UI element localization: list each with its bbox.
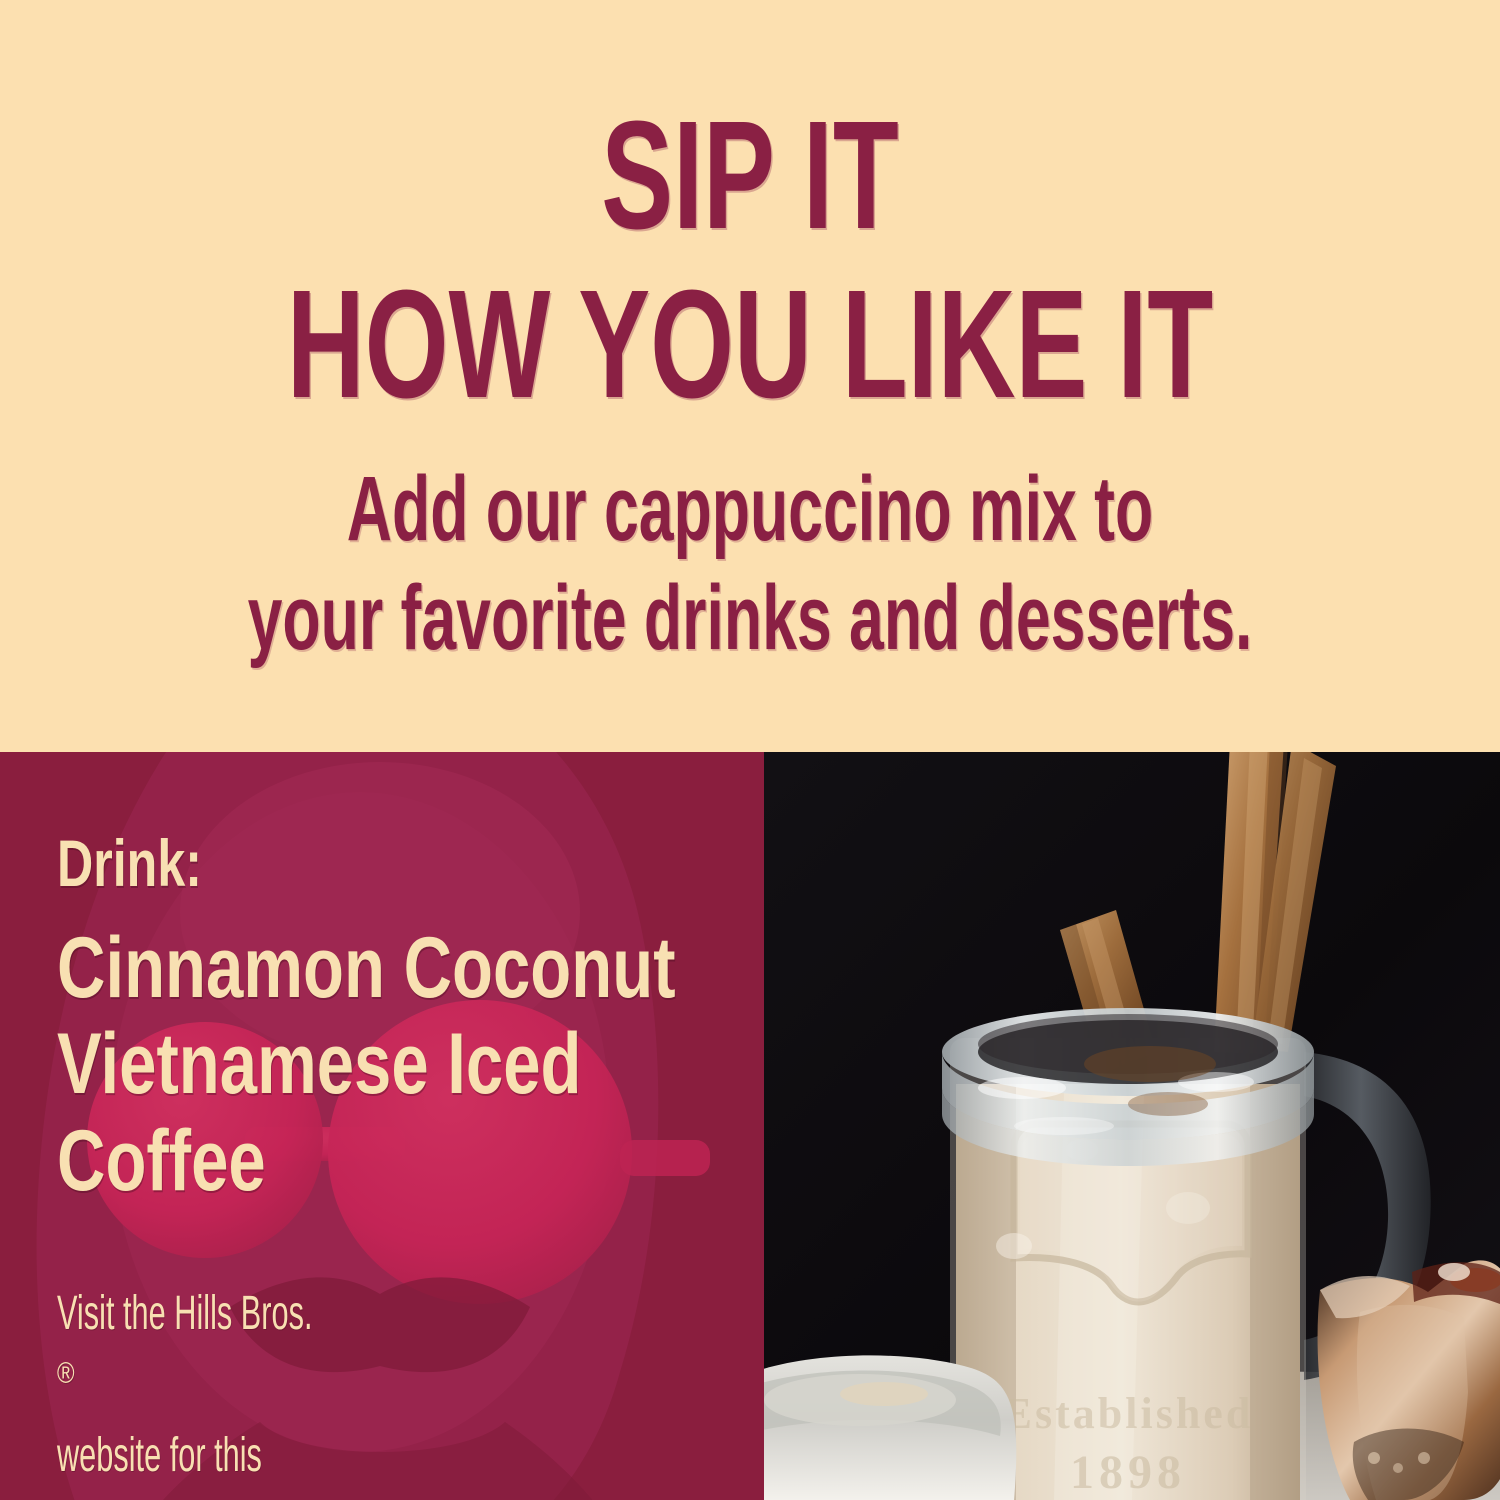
footnote-line-2: and more recipes. bbox=[57, 1491, 609, 1500]
registered-mark-icon: ® bbox=[57, 1357, 75, 1390]
copper-pitcher bbox=[1318, 1260, 1500, 1500]
jar-emboss-year: 1898 bbox=[1070, 1446, 1186, 1499]
drink-name: Cinnamon Coconut Vietnamese Iced Coffee bbox=[57, 920, 737, 1209]
subheadline-block: Add our cappuccino mix to your favorite … bbox=[0, 455, 1500, 672]
subheadline-line-1: Add our cappuccino mix to bbox=[240, 455, 1260, 564]
drink-name-line-1: Cinnamon Coconut bbox=[57, 920, 587, 1016]
headline-line-1: SIP IT bbox=[225, 104, 1275, 247]
footnote-text-after: website for this bbox=[57, 1420, 499, 1491]
footnote-text-before: Visit the Hills Bros. bbox=[57, 1278, 499, 1349]
drink-label: Drink: bbox=[57, 830, 574, 896]
subheadline-line-2: your favorite drinks and desserts. bbox=[240, 564, 1260, 673]
jar-emboss-established: Established bbox=[1003, 1389, 1254, 1438]
headline-line-2: HOW YOU LIKE IT bbox=[225, 273, 1275, 416]
recipe-panel: Drink: Cinnamon Coconut Vietnamese Iced … bbox=[0, 752, 764, 1500]
drink-name-line-3: Coffee bbox=[57, 1113, 587, 1209]
recipe-photo: Established 1898 bbox=[764, 752, 1500, 1500]
recipe-text-block: Drink: Cinnamon Coconut Vietnamese Iced … bbox=[57, 830, 737, 1209]
footnote-line-1: Visit the Hills Bros.® website for this bbox=[57, 1278, 609, 1491]
mason-jar-photo-illustration: Established 1898 bbox=[764, 752, 1500, 1500]
drink-name-line-2: Vietnamese Iced bbox=[57, 1016, 587, 1112]
headline-block: SIP IT HOW YOU LIKE IT bbox=[0, 104, 1500, 416]
recipe-footnote: Visit the Hills Bros.® website for this … bbox=[57, 1278, 747, 1500]
second-jar bbox=[764, 1355, 1016, 1500]
headline-panel: SIP IT HOW YOU LIKE IT Add our cappuccin… bbox=[0, 0, 1500, 752]
ad-creative: SIP IT HOW YOU LIKE IT Add our cappuccin… bbox=[0, 0, 1500, 1500]
